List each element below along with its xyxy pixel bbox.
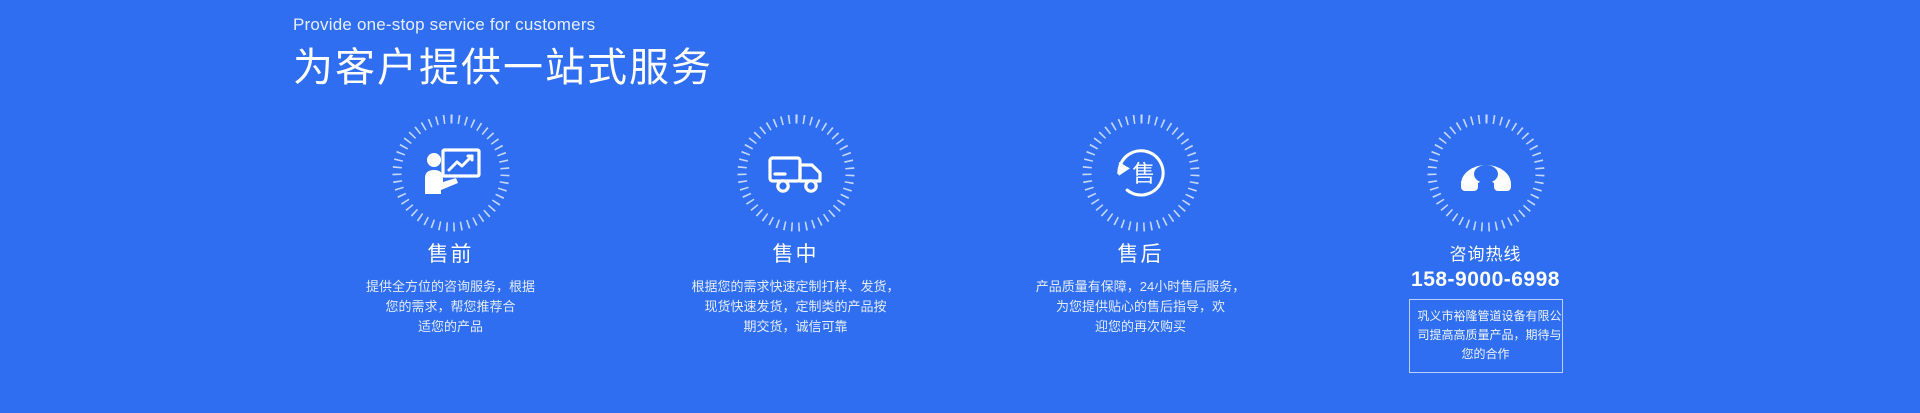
presale-description: 提供全方位的咨询服务，根据 您的需求，帮您推荐合 适您的产品 — [321, 277, 581, 337]
insale-line-1: 根据您的需求快速定制打样、发货， — [666, 277, 926, 297]
service-columns: 售前 提供全方位的咨询服务，根据 您的需求，帮您推荐合 适您的产品 — [278, 112, 1658, 373]
insale-description: 根据您的需求快速定制打样、发货， 现货快速发货，定制类的产品按 期交货，诚信可靠 — [666, 277, 926, 337]
telephone-icon — [1451, 138, 1521, 208]
banner-headings: Provide one-stop service for customers 为… — [293, 14, 1193, 94]
insale-title: 售中 — [773, 242, 819, 268]
company-note-line-2: 司提高高质量产品，期待与 — [1418, 326, 1554, 345]
insale-line-3: 期交货，诚信可靠 — [666, 317, 926, 337]
aftersale-line-3: 迎您的再次购买 — [1011, 317, 1271, 337]
company-note-line-1: 巩义市裕隆管道设备有限公 — [1418, 307, 1554, 326]
delivery-truck-icon — [761, 138, 831, 208]
after-sales-return-icon: 售 — [1106, 138, 1176, 208]
hotline-number[interactable]: 158-9000-6998 — [1411, 267, 1560, 293]
aftersale-line-2: 为您提供贴心的售后指导，欢 — [1011, 297, 1271, 317]
service-column-insale: 售中 根据您的需求快速定制打样、发货， 现货快速发货，定制类的产品按 期交货，诚… — [623, 112, 968, 337]
aftersale-description: 产品质量有保障，24小时售后服务， 为您提供贴心的售后指导，欢 迎您的再次购买 — [1011, 277, 1271, 337]
presale-icon-wrap — [390, 112, 512, 234]
presale-line-1: 提供全方位的咨询服务，根据 — [321, 277, 581, 297]
banner-eyebrow: Provide one-stop service for customers — [293, 14, 1193, 36]
service-column-presale: 售前 提供全方位的咨询服务，根据 您的需求，帮您推荐合 适您的产品 — [278, 112, 623, 337]
hotline-label: 咨询热线 — [1450, 244, 1522, 266]
aftersale-icon-wrap: 售 — [1080, 112, 1202, 234]
presale-line-2: 您的需求，帮您推荐合 — [321, 297, 581, 317]
company-note-line-3: 您的合作 — [1418, 345, 1554, 364]
company-note-box: 巩义市裕隆管道设备有限公 司提高高质量产品，期待与 您的合作 — [1409, 299, 1563, 373]
hotline-icon-wrap — [1425, 112, 1547, 234]
presale-line-3: 适您的产品 — [321, 317, 581, 337]
aftersale-title: 售后 — [1118, 242, 1164, 268]
svg-text:售: 售 — [1132, 160, 1155, 186]
insale-line-2: 现货快速发货，定制类的产品按 — [666, 297, 926, 317]
service-banner: Provide one-stop service for customers 为… — [0, 0, 1920, 413]
presale-title: 售前 — [428, 242, 474, 268]
aftersale-line-1: 产品质量有保障，24小时售后服务， — [1011, 277, 1271, 297]
page-title: 为客户提供一站式服务 — [293, 42, 1193, 94]
service-column-hotline: 咨询热线 158-9000-6998 巩义市裕隆管道设备有限公 司提高高质量产品… — [1313, 112, 1658, 373]
insale-icon-wrap — [735, 112, 857, 234]
service-column-aftersale: 售 售后 产品质量有保障，24小时售后服务， 为您提供贴心的售后指导，欢 迎您的… — [968, 112, 1313, 337]
presentation-board-icon — [416, 138, 486, 208]
